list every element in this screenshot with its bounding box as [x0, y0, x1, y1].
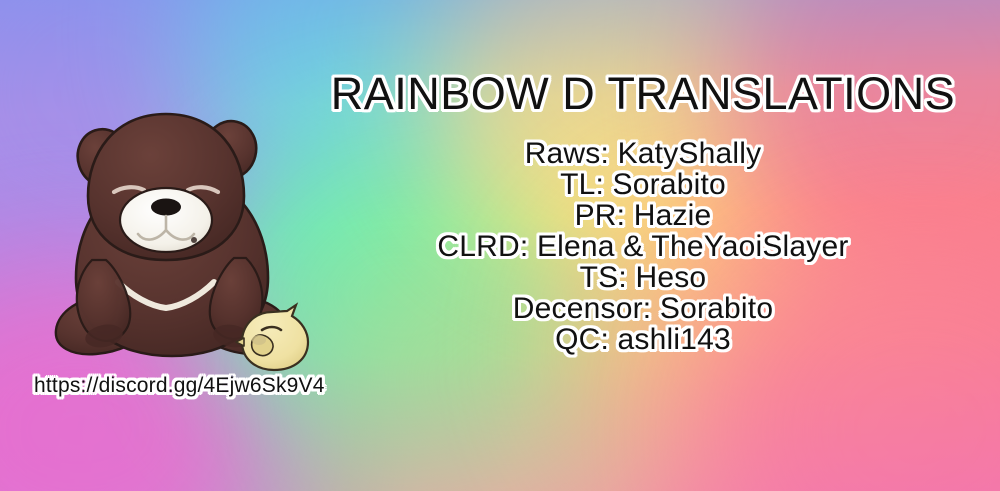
credit-line-raws: Raws: KatyShally [525, 138, 762, 169]
discord-invite-link[interactable]: https://discord.gg/4Ejw6Sk9V4 [34, 374, 325, 398]
credits-list: Raws: KatyShally TL: Sorabito PR: Hazie … [286, 138, 1000, 355]
bear-nose [151, 199, 181, 216]
credit-line-decensor: Decensor: Sorabito [513, 293, 773, 324]
credit-line-clrd: CLRD: Elena & TheYaoiSlayer [437, 231, 848, 262]
credits-banner: RAINBOW D TRANSLATIONS Raws: KatyShally … [0, 0, 1000, 491]
page-title: RAINBOW D TRANSLATIONS [0, 68, 1000, 120]
bear-chin-dot [191, 237, 197, 243]
credit-line-pr: PR: Hazie [575, 200, 712, 231]
chick-blush [252, 335, 266, 345]
credit-line-tl: TL: Sorabito [560, 169, 726, 200]
credit-line-ts: TS: Heso [580, 262, 707, 293]
credit-line-qc: QC: ashli143 [555, 324, 731, 355]
